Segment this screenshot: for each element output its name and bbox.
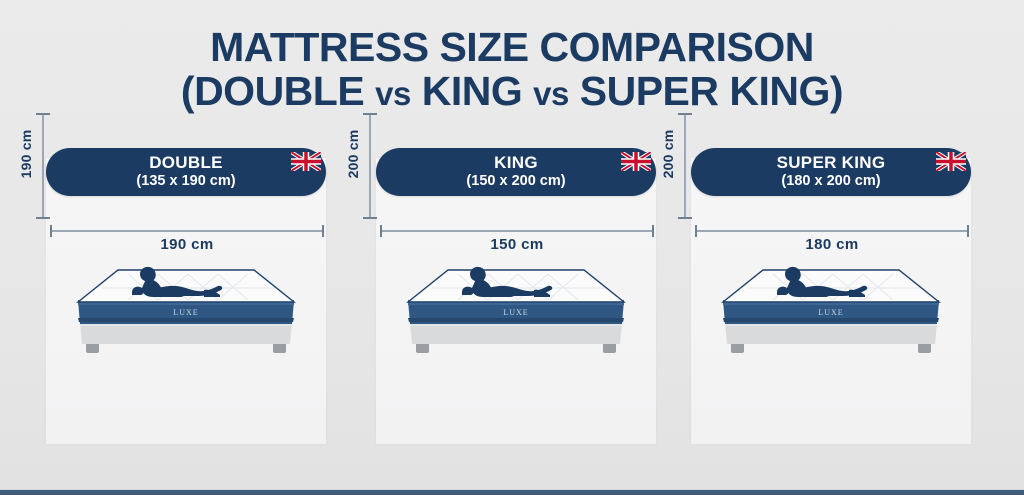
dimension-cap-top (363, 113, 377, 115)
svg-text:LUXE: LUXE (173, 308, 198, 317)
svg-text:LUXE: LUXE (818, 308, 843, 317)
dimension-cap-bottom (678, 217, 692, 219)
dimension-line (684, 114, 686, 218)
mattress-illustration-double: LUXE (54, 252, 318, 360)
dimension-cap-bottom (36, 217, 50, 219)
vertical-dimension-label: 190 cm (18, 119, 34, 189)
svg-text:LUXE: LUXE (503, 308, 528, 317)
horizontal-dimension-king: 150 cm (378, 224, 656, 258)
dimension-cap-top (36, 113, 50, 115)
card-title: DOUBLE (149, 154, 223, 172)
card-king[interactable]: KING (150 x 200 cm) (376, 148, 656, 444)
dimension-line (51, 230, 323, 232)
vertical-dimension-label: 200 cm (660, 119, 676, 189)
card-super-king[interactable]: SUPER KING (180 x 200 cm) (691, 148, 971, 444)
dimension-line (42, 114, 44, 218)
mattress-illustration-king: LUXE (384, 252, 648, 360)
card-dimensions: (180 x 200 cm) (781, 173, 880, 190)
card-double[interactable]: DOUBLE (135 x 190 cm) (46, 148, 326, 444)
dimension-line (369, 114, 371, 218)
vertical-dimension-label: 200 cm (345, 119, 361, 189)
dimension-line (381, 230, 653, 232)
card-title: KING (494, 154, 538, 172)
title-king: KING (422, 68, 523, 114)
page-title: MATTRESS SIZE COMPARISON (DOUBLE vs KING… (0, 26, 1024, 114)
title-vs-2: vs (533, 75, 569, 112)
card-dimensions: (135 x 190 cm) (136, 173, 235, 190)
card-dimensions: (150 x 200 cm) (466, 173, 565, 190)
dimension-cap-bottom (363, 217, 377, 219)
title-super-king: SUPER KING) (580, 68, 843, 114)
vertical-dimension-king: 200 cm (341, 112, 381, 220)
title-double: (DOUBLE (181, 68, 364, 114)
dimension-cap-top (678, 113, 692, 115)
title-line-1: MATTRESS SIZE COMPARISON (0, 26, 1024, 70)
bottom-divider (0, 490, 1024, 495)
mattress-logo: LUXE (167, 307, 205, 317)
uk-flag-icon (291, 152, 321, 171)
mattress-logo: LUXE (812, 307, 850, 317)
card-title: SUPER KING (777, 154, 886, 172)
dimension-line (696, 230, 968, 232)
mattress-illustration-super-king: LUXE (699, 252, 963, 360)
title-line-2: (DOUBLE vs KING vs SUPER KING) (0, 70, 1024, 114)
comparison-cards: DOUBLE (135 x 190 cm) (0, 148, 1024, 448)
horizontal-dimension-super-king: 180 cm (693, 224, 971, 258)
card-header-double: DOUBLE (135 x 190 cm) (46, 148, 326, 196)
mattress-logo: LUXE (497, 307, 535, 317)
uk-flag-icon (621, 152, 651, 171)
vertical-dimension-super-king: 200 cm (656, 112, 696, 220)
horizontal-dimension-label: 180 cm (693, 236, 971, 253)
title-vs-1: vs (375, 75, 411, 112)
card-header-king: KING (150 x 200 cm) (376, 148, 656, 196)
card-header-super-king: SUPER KING (180 x 200 cm) (691, 148, 971, 196)
horizontal-dimension-label: 150 cm (378, 236, 656, 253)
horizontal-dimension-double: 190 cm (48, 224, 326, 258)
uk-flag-icon (936, 152, 966, 171)
horizontal-dimension-label: 190 cm (48, 236, 326, 253)
